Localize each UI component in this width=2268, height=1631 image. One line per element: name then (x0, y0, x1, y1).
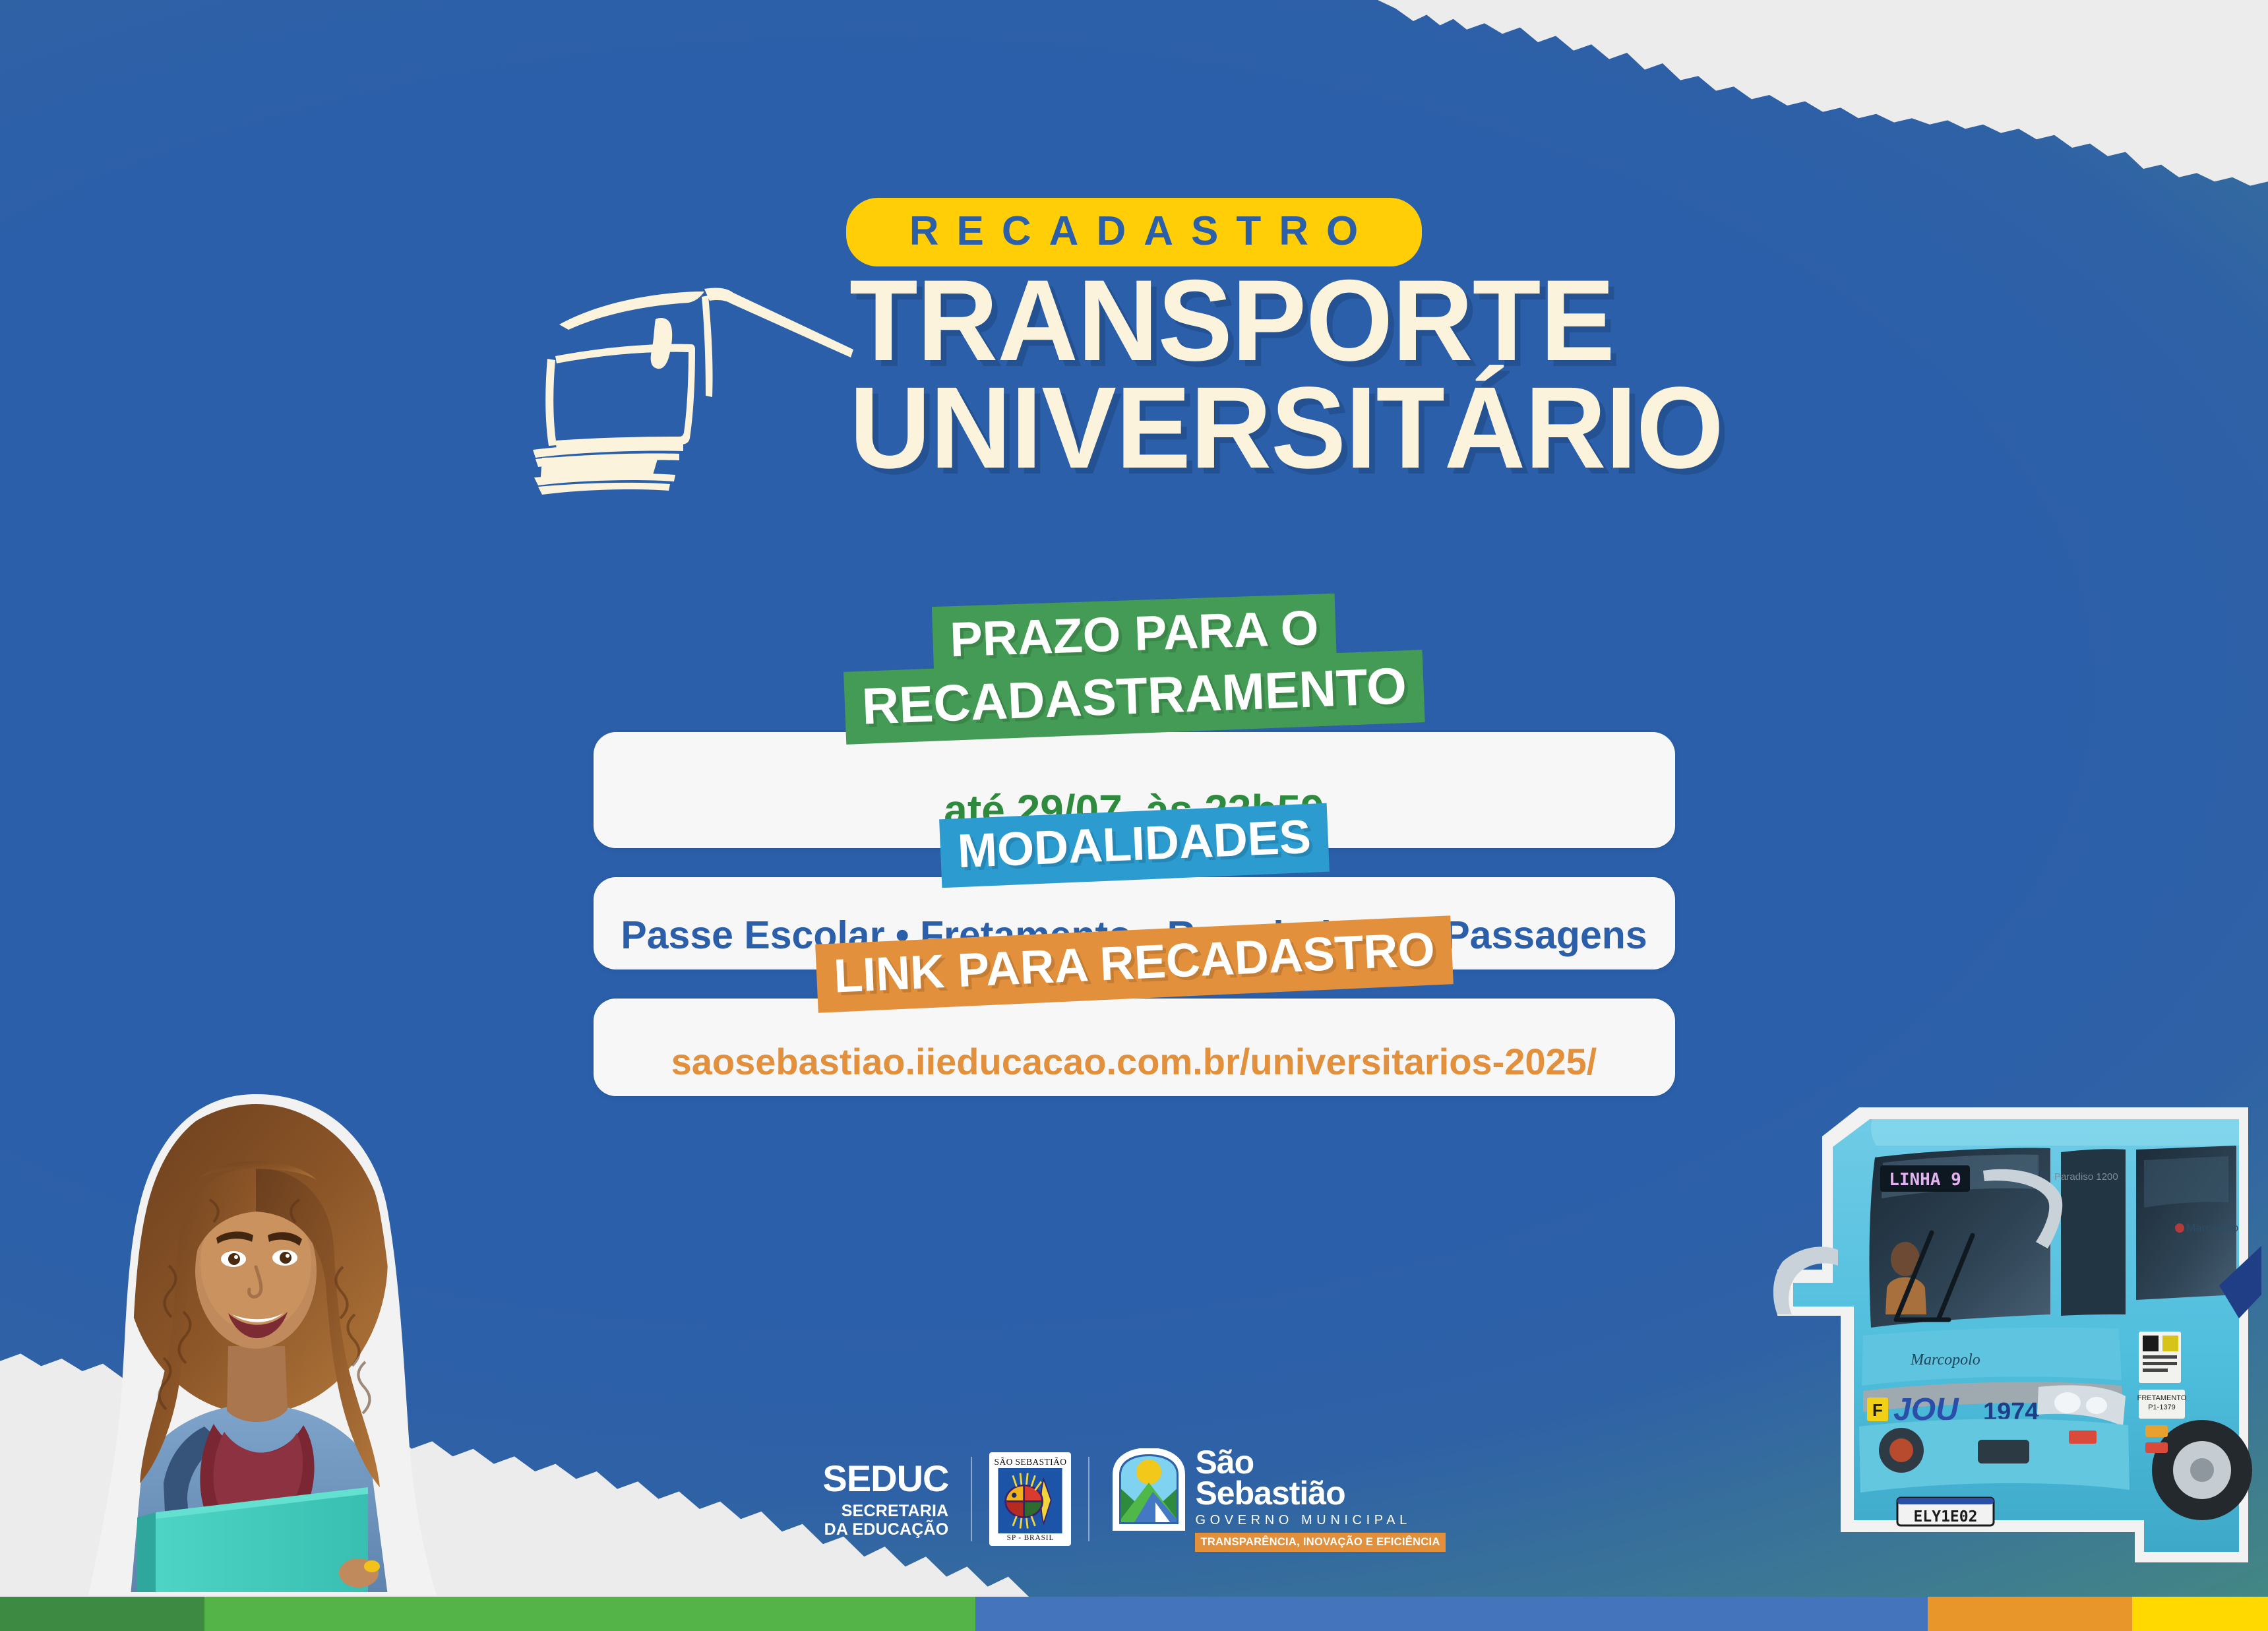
sao-sebastiao-shield-icon (1112, 1448, 1186, 1531)
brasao-bottom-text: SP - BRASIL (1007, 1535, 1055, 1543)
gov-name-line-2: Sebastião (1195, 1478, 1445, 1510)
seduc-subtitle-line-1: SECRETARIA (824, 1502, 949, 1520)
seduc-subtitle-line-2: DA EDUCAÇÃO (824, 1520, 949, 1539)
logo-seduc: SEDUC SECRETARIA DA EDUCAÇÃO (822, 1460, 971, 1539)
bus-charter-label: FRETAMENTO (2137, 1394, 2187, 1402)
title-stack: TRANSPORTE UNIVERSITÁRIO (849, 268, 1750, 482)
bus-brand-front: Marcopolo (1910, 1351, 1980, 1369)
strip-segment-2 (204, 1597, 975, 1631)
fish-coat-of-arms-art (996, 1468, 1064, 1533)
page-title-line-2: UNIVERSITÁRIO (849, 375, 1723, 482)
seduc-wordmark: SEDUC (822, 1460, 948, 1497)
strip-segment-3 (975, 1597, 1928, 1631)
bus-brand-side: Marcopolo (2186, 1221, 2238, 1234)
bus-charter-number: P1-1379 (2148, 1403, 2176, 1411)
bus-f-badge: F (1872, 1400, 1883, 1420)
torn-paper-top-right (1378, 0, 2268, 211)
seduc-subtitle: SECRETARIA DA EDUCAÇÃO (824, 1502, 949, 1539)
header-zone: RECADASTRO (0, 198, 2268, 541)
logo-governo-municipal: São Sebastião GOVERNO MUNICIPAL TRANSPAR… (1089, 1447, 1445, 1553)
strip-segment-5 (2132, 1597, 2268, 1631)
bus-line-art-icon (518, 280, 861, 504)
title-row: TRANSPORTE UNIVERSITÁRIO (518, 268, 1750, 504)
bus-destination-text: LINHA 9 (1889, 1170, 1961, 1190)
bottom-color-strip (0, 1597, 2268, 1631)
gov-tagline: TRANSPARÊNCIA, INOVAÇÃO E EFICIÊNCIA (1195, 1533, 1445, 1553)
card-link-body[interactable]: saosebastiao.iieducacao.com.br/universit… (594, 999, 1675, 1096)
gov-text-block: São Sebastião GOVERNO MUNICIPAL TRANSPAR… (1195, 1447, 1445, 1553)
strip-segment-1 (0, 1597, 204, 1631)
info-cards: PRAZO PARA O RECADASTRAMENTO até 29/07, … (0, 732, 2268, 1096)
brasao-top-text: SÃO SEBASTIÃO (995, 1458, 1067, 1467)
tag-recadastramento: RECADASTRAMENTO (843, 650, 1425, 745)
strip-segment-4 (1928, 1597, 2132, 1631)
gov-subtitle: GOVERNO MUNICIPAL (1195, 1514, 1445, 1527)
recadastro-url[interactable]: saosebastiao.iieducacao.com.br/universit… (671, 1043, 1597, 1080)
card-link: LINK PARA RECADASTRO saosebastiao.iieduc… (594, 999, 1675, 1096)
brasao-box: SÃO SEBASTIÃO (989, 1452, 1071, 1546)
bus-model-badge: Paradiso 1200 (2054, 1171, 2118, 1183)
poster-root: RECADASTRO (0, 0, 2268, 1631)
page-title-line-1: TRANSPORTE (849, 268, 1723, 374)
logo-brasao-sao-sebastiao: SÃO SEBASTIÃO (972, 1452, 1088, 1546)
footer-logos: SEDUC SECRETARIA DA EDUCAÇÃO SÃO SEBASTI… (0, 1447, 2268, 1553)
gov-name-line-1: São (1195, 1447, 1445, 1479)
